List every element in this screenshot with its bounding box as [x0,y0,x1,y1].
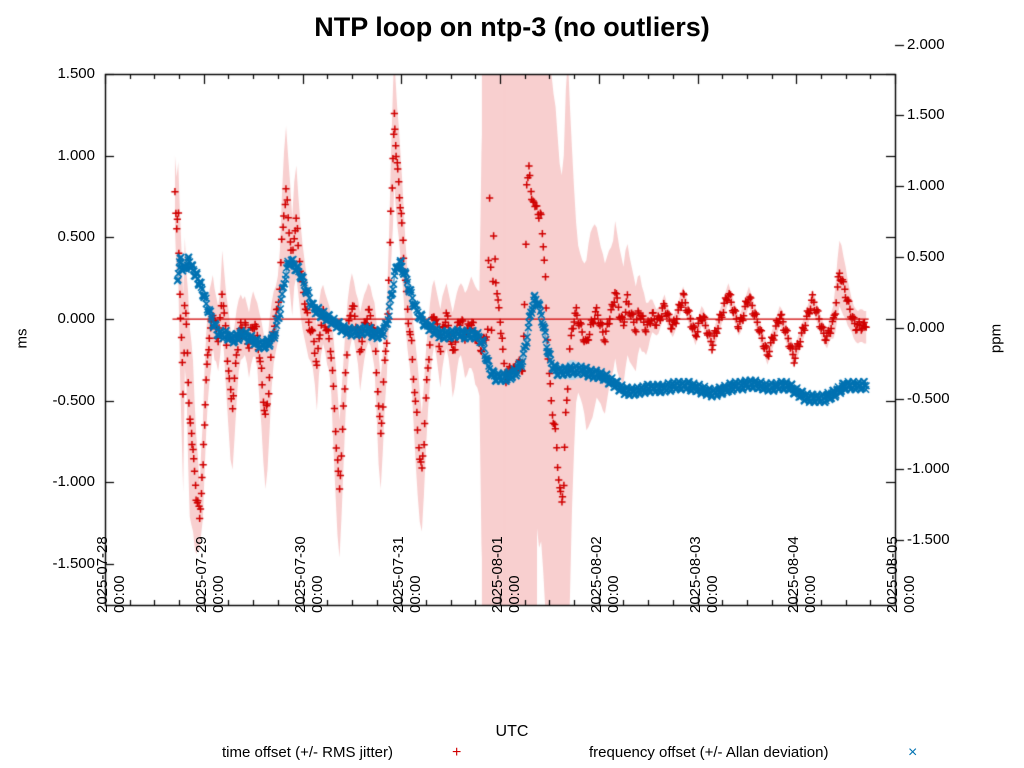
y-tick-label: 1.500 [25,65,95,82]
x-tick-label: 2025-07-28 [94,536,111,613]
y2-tick-label: 0.000 [907,319,987,336]
legend-marker-frequency-offset: × [908,745,917,761]
y2-tick-label: -0.500 [907,390,987,407]
x-tick-label: 00:00 [506,575,523,613]
x-tick-label: 2025-08-02 [588,536,605,613]
chart-root: NTP loop on ntp-3 (no outliers) ms ppm U… [0,0,1024,768]
x-tick-label: 00:00 [111,575,128,613]
x-tick-label: 00:00 [309,575,326,613]
x-tick-label: 00:00 [704,575,721,613]
x-tick-label: 2025-08-04 [785,536,802,613]
y2-tick-label: 2.000 [907,36,987,53]
y2-tick-label: 1.000 [907,177,987,194]
x-tick-label: 2025-07-31 [390,536,407,613]
y2-tick-label: -1.000 [907,460,987,477]
legend-marker-time-offset: + [452,745,461,761]
x-tick-label: 2025-07-30 [292,536,309,613]
legend-label-frequency-offset: frequency offset (+/- Allan deviation) [589,744,828,761]
y-axis-label-right: ppm [988,309,1005,369]
y-tick-label: 0.000 [25,310,95,327]
x-tick-label: 00:00 [802,575,819,613]
x-tick-label: 00:00 [407,575,424,613]
y-tick-label: 0.500 [25,228,95,245]
y-tick-label: 1.000 [25,147,95,164]
x-tick-label: 2025-08-03 [687,536,704,613]
y2-tick-label: -1.500 [907,531,987,548]
y-tick-label: -0.500 [25,392,95,409]
plot-canvas [0,0,1024,768]
x-axis-label: UTC [0,723,1024,741]
chart-title: NTP loop on ntp-3 (no outliers) [0,12,1024,43]
legend-label-time-offset: time offset (+/- RMS jitter) [222,744,393,761]
y2-tick-label: 0.500 [907,248,987,265]
y-tick-label: -1.500 [25,555,95,572]
x-tick-label: 00:00 [210,575,227,613]
y-tick-label: -1.000 [25,473,95,490]
x-tick-label: 00:00 [605,575,622,613]
x-tick-label: 2025-08-05 [884,536,901,613]
x-tick-label: 00:00 [901,575,918,613]
x-tick-label: 2025-08-01 [489,536,506,613]
x-tick-label: 2025-07-29 [193,536,210,613]
y2-tick-label: 1.500 [907,106,987,123]
